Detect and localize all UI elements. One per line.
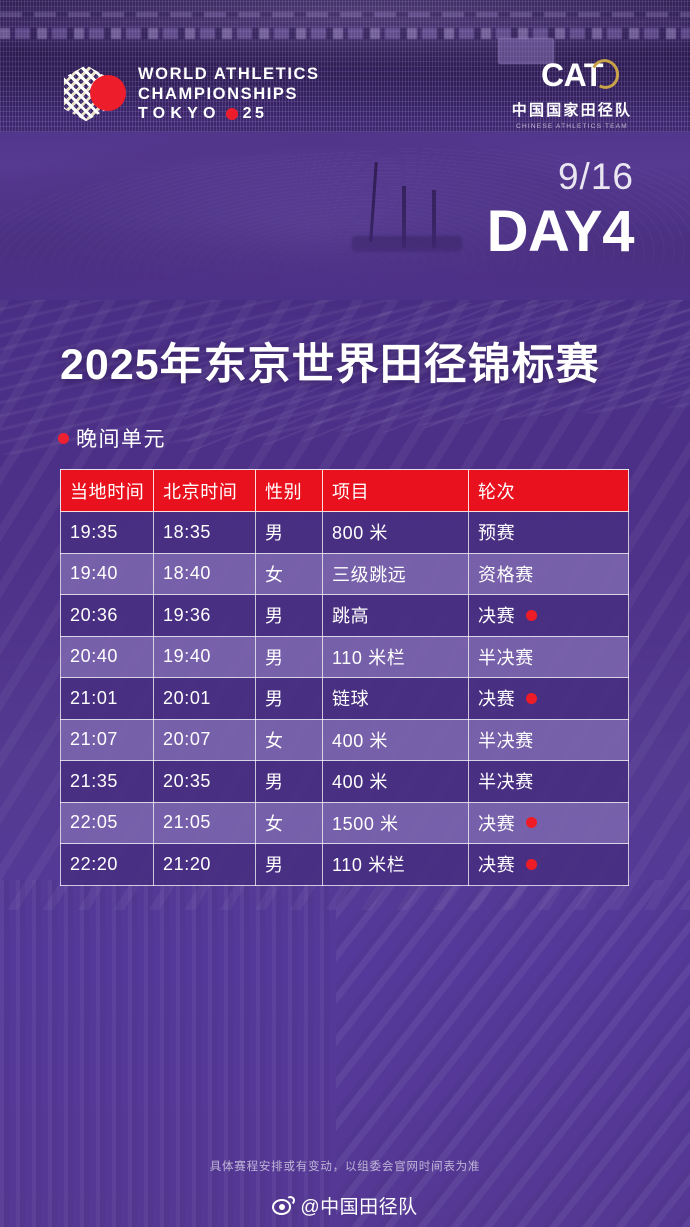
cell-local-time: 21:01 bbox=[61, 678, 154, 720]
cell-round: 资格赛 bbox=[469, 553, 629, 595]
cell-beijing-time: 19:36 bbox=[154, 595, 256, 637]
cell-beijing-time: 18:35 bbox=[154, 512, 256, 554]
table-header-row: 当地时间 北京时间 性别 项目 轮次 bbox=[61, 470, 629, 512]
weibo-handle: @中国田径队 bbox=[300, 1192, 417, 1219]
cat-mark: CAT bbox=[541, 58, 603, 92]
column-header-local-time: 当地时间 bbox=[61, 470, 154, 512]
cell-event: 三级跳远 bbox=[323, 553, 469, 595]
wa-line-world-athletics: WORLD ATHLETICS bbox=[138, 64, 320, 84]
round-label: 预赛 bbox=[478, 519, 515, 545]
disclaimer-note: 具体赛程安排或有变动，以组委会官网时间表为准 bbox=[0, 1158, 690, 1174]
table-row: 22:0521:05女1500 米决赛 bbox=[61, 802, 629, 844]
final-marker-dot-icon bbox=[526, 693, 537, 704]
table-row: 20:3619:36男跳高决赛 bbox=[61, 595, 629, 637]
red-dot-icon bbox=[58, 433, 69, 444]
table-row: 19:4018:40女三级跳远资格赛 bbox=[61, 553, 629, 595]
cell-round: 半决赛 bbox=[469, 719, 629, 761]
weibo-icon bbox=[272, 1196, 295, 1215]
page-title: 2025年东京世界田径锦标赛 bbox=[60, 330, 600, 392]
table-header: 当地时间 北京时间 性别 项目 轮次 bbox=[61, 470, 629, 512]
table-row: 20:4019:40男110 米栏半决赛 bbox=[61, 636, 629, 678]
cell-event: 链球 bbox=[323, 678, 469, 720]
cell-local-time: 21:35 bbox=[61, 761, 154, 803]
round-content: 资格赛 bbox=[478, 561, 619, 587]
cell-round: 半决赛 bbox=[469, 636, 629, 678]
cell-round: 预赛 bbox=[469, 512, 629, 554]
wa-tokyo-text: TOKYO bbox=[138, 106, 221, 122]
cell-gender: 男 bbox=[256, 678, 323, 720]
cell-gender: 男 bbox=[256, 844, 323, 886]
weibo-arc-shape bbox=[286, 1195, 296, 1205]
cell-gender: 男 bbox=[256, 761, 323, 803]
round-label: 资格赛 bbox=[478, 561, 534, 587]
cell-beijing-time: 18:40 bbox=[154, 553, 256, 595]
final-marker-dot-icon bbox=[526, 859, 537, 870]
wa-year-text: 25 bbox=[243, 106, 268, 122]
cell-gender: 男 bbox=[256, 636, 323, 678]
table-body: 19:3518:35男800 米预赛19:4018:40女三级跳远资格赛20:3… bbox=[61, 512, 629, 886]
cell-local-time: 19:40 bbox=[61, 553, 154, 595]
round-content: 半决赛 bbox=[478, 727, 619, 753]
session-heading: 晚间单元 bbox=[58, 423, 166, 453]
schedule-poster: WORLD ATHLETICS CHAMPIONSHIPS TOKYO 25 C… bbox=[0, 0, 690, 1227]
day-block: 9/16 DAY4 bbox=[487, 158, 634, 261]
round-label: 决赛 bbox=[478, 685, 515, 711]
cell-round: 决赛 bbox=[469, 802, 629, 844]
round-content: 预赛 bbox=[478, 519, 619, 545]
round-content: 决赛 bbox=[478, 685, 619, 711]
cell-beijing-time: 20:01 bbox=[154, 678, 256, 720]
round-content: 决赛 bbox=[478, 602, 619, 628]
column-header-round: 轮次 bbox=[469, 470, 629, 512]
cat-english-name: CHINESE ATHLETICS TEAM bbox=[492, 123, 652, 130]
cell-local-time: 22:20 bbox=[61, 844, 154, 886]
table-row: 21:0120:01男链球决赛 bbox=[61, 678, 629, 720]
chinese-athletics-team-logo: CAT 中国国家田径队 CHINESE ATHLETICS TEAM bbox=[492, 58, 652, 130]
wa-line-championships: CHAMPIONSHIPS bbox=[138, 84, 320, 104]
cell-beijing-time: 19:40 bbox=[154, 636, 256, 678]
cell-gender: 男 bbox=[256, 595, 323, 637]
cell-gender: 女 bbox=[256, 719, 323, 761]
weibo-credit: @中国田径队 bbox=[0, 1192, 690, 1219]
round-label: 半决赛 bbox=[478, 727, 534, 753]
round-label: 决赛 bbox=[478, 810, 515, 836]
round-label: 半决赛 bbox=[478, 644, 534, 670]
background-vertical-stripes bbox=[0, 880, 336, 1227]
table-row: 21:0720:07女400 米半决赛 bbox=[61, 719, 629, 761]
wa-line-tokyo-25: TOKYO 25 bbox=[138, 106, 320, 122]
world-athletics-logo: WORLD ATHLETICS CHAMPIONSHIPS TOKYO 25 bbox=[64, 64, 320, 122]
round-content: 半决赛 bbox=[478, 768, 619, 794]
cell-gender: 男 bbox=[256, 512, 323, 554]
cell-event: 110 米栏 bbox=[323, 636, 469, 678]
world-athletics-wordmark: WORLD ATHLETICS CHAMPIONSHIPS TOKYO 25 bbox=[138, 64, 320, 122]
cell-event: 1500 米 bbox=[323, 802, 469, 844]
round-content: 半决赛 bbox=[478, 644, 619, 670]
final-marker-dot-icon bbox=[526, 610, 537, 621]
round-content: 决赛 bbox=[478, 810, 619, 836]
column-header-beijing-time: 北京时间 bbox=[154, 470, 256, 512]
cell-round: 决赛 bbox=[469, 844, 629, 886]
world-athletics-fan-mark-icon bbox=[64, 65, 126, 121]
weibo-pupil-shape bbox=[279, 1204, 285, 1210]
cell-beijing-time: 20:07 bbox=[154, 719, 256, 761]
column-header-gender: 性别 bbox=[256, 470, 323, 512]
column-header-event: 项目 bbox=[323, 470, 469, 512]
cell-beijing-time: 21:05 bbox=[154, 802, 256, 844]
round-label: 决赛 bbox=[478, 602, 515, 628]
day-date: 9/16 bbox=[487, 158, 634, 195]
cell-event: 400 米 bbox=[323, 761, 469, 803]
cell-round: 半决赛 bbox=[469, 761, 629, 803]
cat-chinese-name: 中国国家田径队 bbox=[492, 99, 652, 120]
red-sun-dot-icon bbox=[90, 75, 126, 111]
cell-event: 110 米栏 bbox=[323, 844, 469, 886]
table-row: 19:3518:35男800 米预赛 bbox=[61, 512, 629, 554]
cell-round: 决赛 bbox=[469, 678, 629, 720]
cell-gender: 女 bbox=[256, 553, 323, 595]
cell-local-time: 19:35 bbox=[61, 512, 154, 554]
round-content: 决赛 bbox=[478, 851, 619, 877]
schedule-table: 当地时间 北京时间 性别 项目 轮次 19:3518:35男800 米预赛19:… bbox=[60, 469, 629, 886]
background-diagonal-stripes bbox=[336, 880, 690, 1227]
round-label: 半决赛 bbox=[478, 768, 534, 794]
round-label: 决赛 bbox=[478, 851, 515, 877]
cell-event: 跳高 bbox=[323, 595, 469, 637]
cell-local-time: 22:05 bbox=[61, 802, 154, 844]
cell-local-time: 21:07 bbox=[61, 719, 154, 761]
wa-red-dot-icon bbox=[226, 108, 238, 120]
day-label: DAY4 bbox=[487, 202, 634, 261]
cell-event: 400 米 bbox=[323, 719, 469, 761]
cell-gender: 女 bbox=[256, 802, 323, 844]
final-marker-dot-icon bbox=[526, 817, 537, 828]
cell-round: 决赛 bbox=[469, 595, 629, 637]
session-label: 晚间单元 bbox=[76, 423, 166, 453]
cell-local-time: 20:36 bbox=[61, 595, 154, 637]
cell-beijing-time: 21:20 bbox=[154, 844, 256, 886]
table-row: 22:2021:20男110 米栏决赛 bbox=[61, 844, 629, 886]
table-row: 21:3520:35男400 米半决赛 bbox=[61, 761, 629, 803]
cell-beijing-time: 20:35 bbox=[154, 761, 256, 803]
cell-local-time: 20:40 bbox=[61, 636, 154, 678]
cell-event: 800 米 bbox=[323, 512, 469, 554]
